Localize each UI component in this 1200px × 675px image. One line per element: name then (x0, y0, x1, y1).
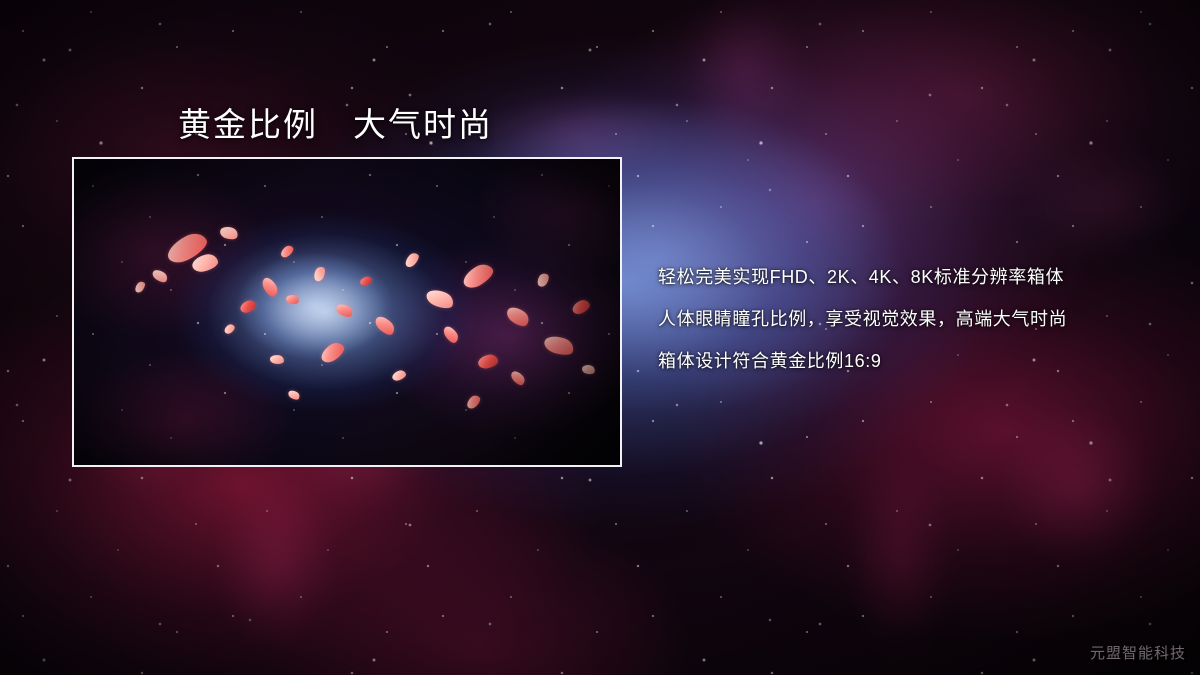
feature-description-block: 轻松完美实现FHD、2K、4K、8K标准分辨率箱体 人体眼睛瞳孔比例，享受视觉效… (658, 256, 1178, 382)
page-title: 黄金比例 大气时尚 (178, 98, 493, 146)
photo-frame (72, 157, 622, 467)
description-line-1: 轻松完美实现FHD、2K、4K、8K标准分辨率箱体 (658, 256, 1178, 298)
photo-vignette (74, 159, 620, 465)
description-line-2: 人体眼睛瞳孔比例，享受视觉效果，高端大气时尚 (658, 298, 1178, 340)
presentation-slide: 黄金比例 大气时尚 轻松完美实现FHD、2K、4K、8K标准分辨率箱体 人体眼睛… (0, 0, 1200, 675)
watermark-brand: 元盟智能科技 (1090, 642, 1186, 663)
description-line-3: 箱体设计符合黄金比例16:9 (658, 340, 1178, 382)
